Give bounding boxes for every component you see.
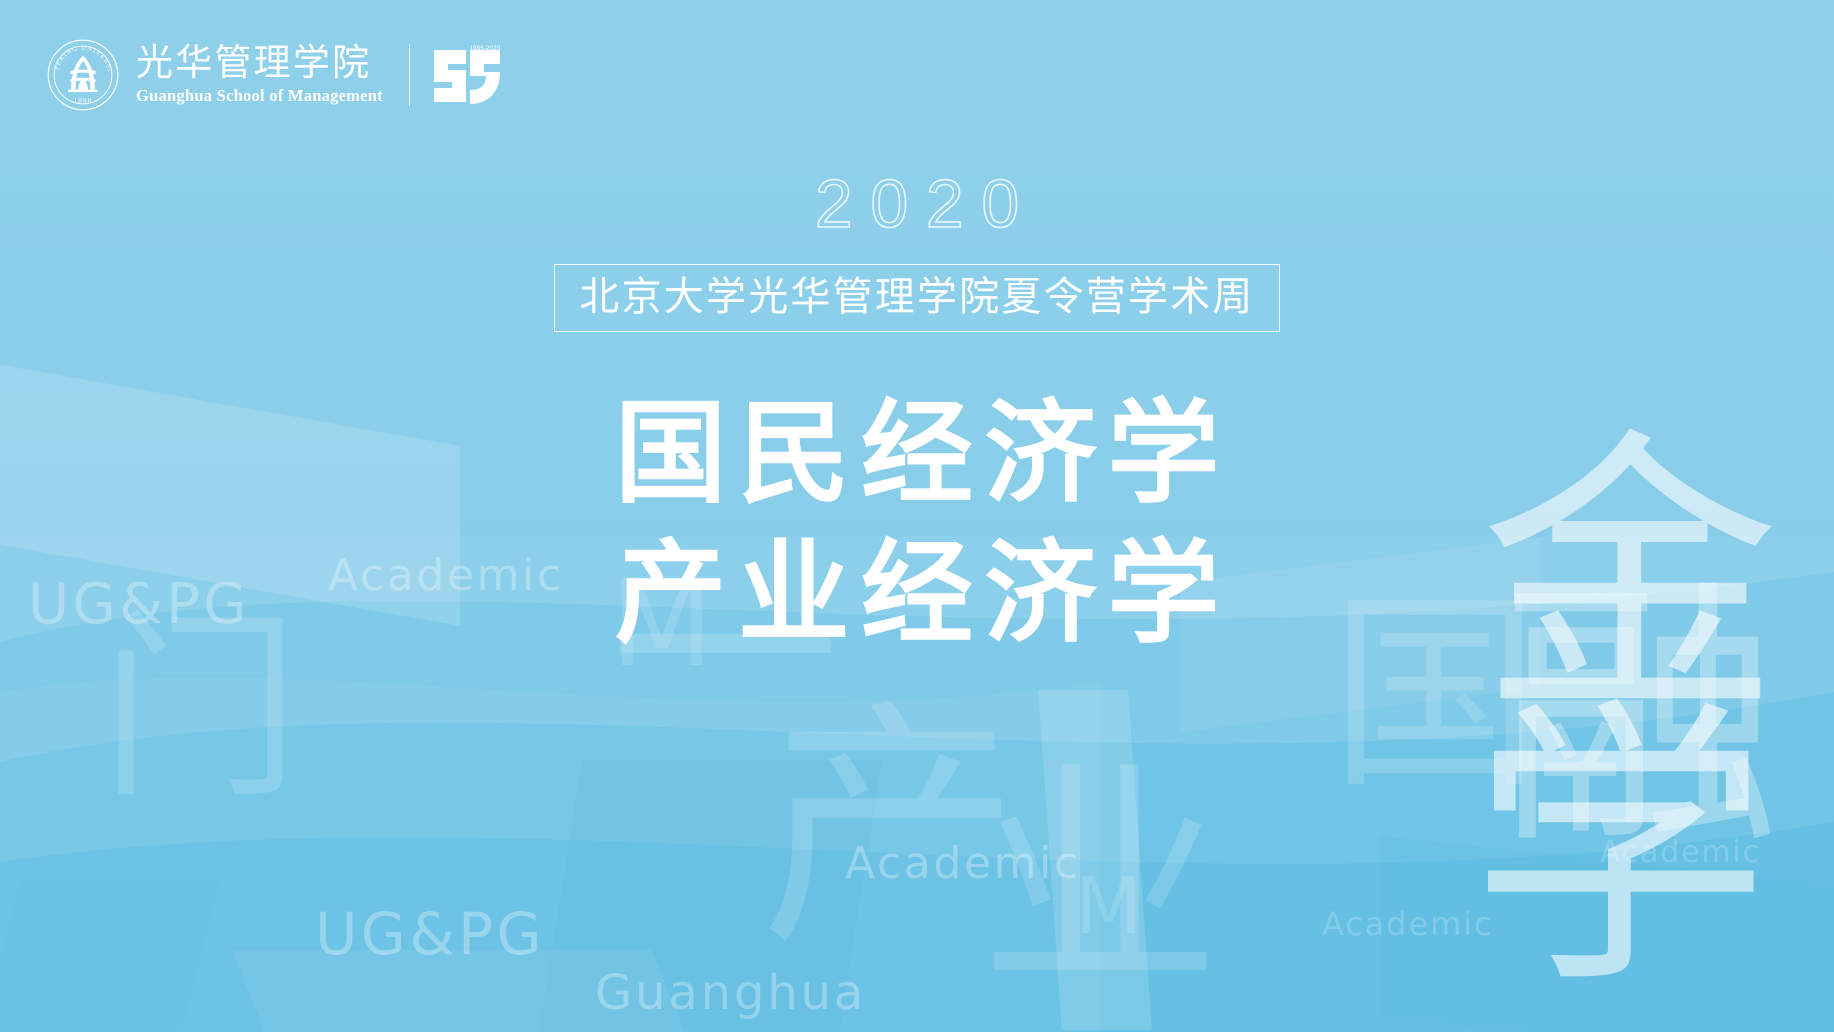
hero-year: 2020	[0, 170, 1834, 238]
hero-block: 2020 北京大学光华管理学院夏令营学术周 国民经济学 产业经济学	[0, 170, 1834, 664]
hero-title-line-2: 产业经济学	[0, 524, 1834, 664]
anniversary-years-label: 1985-2020	[470, 46, 501, 52]
svg-text:1898: 1898	[73, 96, 92, 105]
hero-subtitle: 北京大学光华管理学院夏令营学术周	[579, 276, 1254, 318]
school-name-en: Guanghua School of Management	[136, 86, 383, 106]
school-name-cn: 光华管理学院	[136, 44, 383, 83]
poster-canvas: 一 门 国 产 业 金 融 学 Academic Academic Academ…	[0, 0, 1834, 1032]
svg-text:PEKING UNIVERSITY: PEKING UNIVERSITY	[46, 38, 113, 73]
anniversary-35-icon: 1985-2020	[432, 44, 498, 106]
watermark-academic: Academic	[845, 838, 1081, 889]
hero-title-line-1: 国民经济学	[0, 384, 1834, 524]
brand-logo-bar: 1898 PEKING UNIVERSITY 光华管理学院 Guanghua S…	[46, 36, 498, 114]
watermark-academic: Academic	[1322, 905, 1494, 943]
hero-title: 国民经济学 产业经济学	[0, 384, 1834, 664]
watermark-letter-m: M	[1075, 862, 1147, 952]
decor-shard	[0, 880, 220, 1032]
anniversary-mark-glyph	[432, 44, 502, 108]
watermark-ugpg: UG&PG	[315, 900, 545, 968]
watermark-guanghua: Guanghua	[595, 965, 866, 1021]
hero-subtitle-box: 北京大学光华管理学院夏令营学术周	[554, 264, 1279, 332]
watermark-academic: Academic	[1600, 835, 1761, 870]
peking-university-seal-icon: 1898 PEKING UNIVERSITY	[46, 38, 120, 112]
logo-divider	[409, 44, 411, 106]
brand-name-block: 光华管理学院 Guanghua School of Management	[136, 44, 383, 106]
